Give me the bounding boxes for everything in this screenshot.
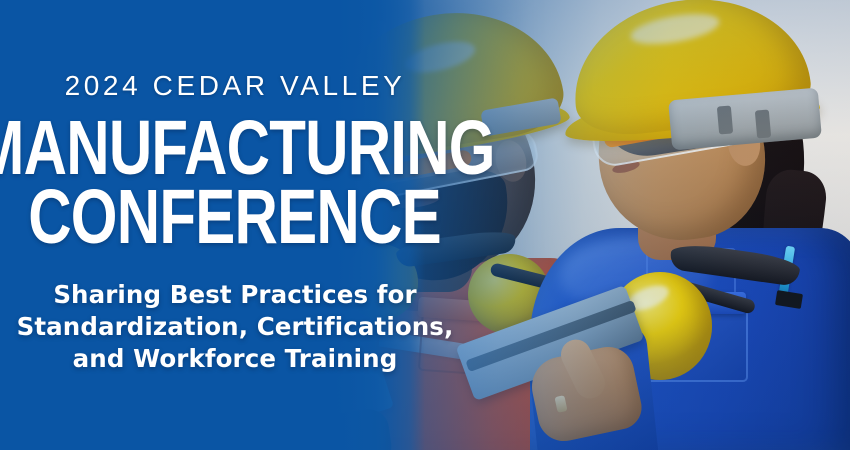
banner-eyebrow: 2024 CEDAR VALLEY [65,72,406,100]
banner-subtitle: Sharing Best Practices for Standardizati… [17,279,454,375]
banner-text-block: 2024 CEDAR VALLEY MANUFACTURING CONFEREN… [0,0,470,450]
banner-headline-line1: MANUFACTURING [0,116,495,181]
conference-banner: 2024 CEDAR VALLEY MANUFACTURING CONFEREN… [0,0,850,450]
banner-headline-line2: CONFERENCE [29,185,442,250]
worker-right-suspension-slot-1 [717,105,733,134]
banner-subtitle-line-1: Sharing Best Practices for [17,279,454,311]
banner-subtitle-line-2: Standardization, Certifications, [17,311,454,343]
banner-subtitle-line-3: and Workforce Training [17,343,454,375]
worker-right-suspension-slot-2 [755,109,771,138]
worker-right [520,0,850,450]
